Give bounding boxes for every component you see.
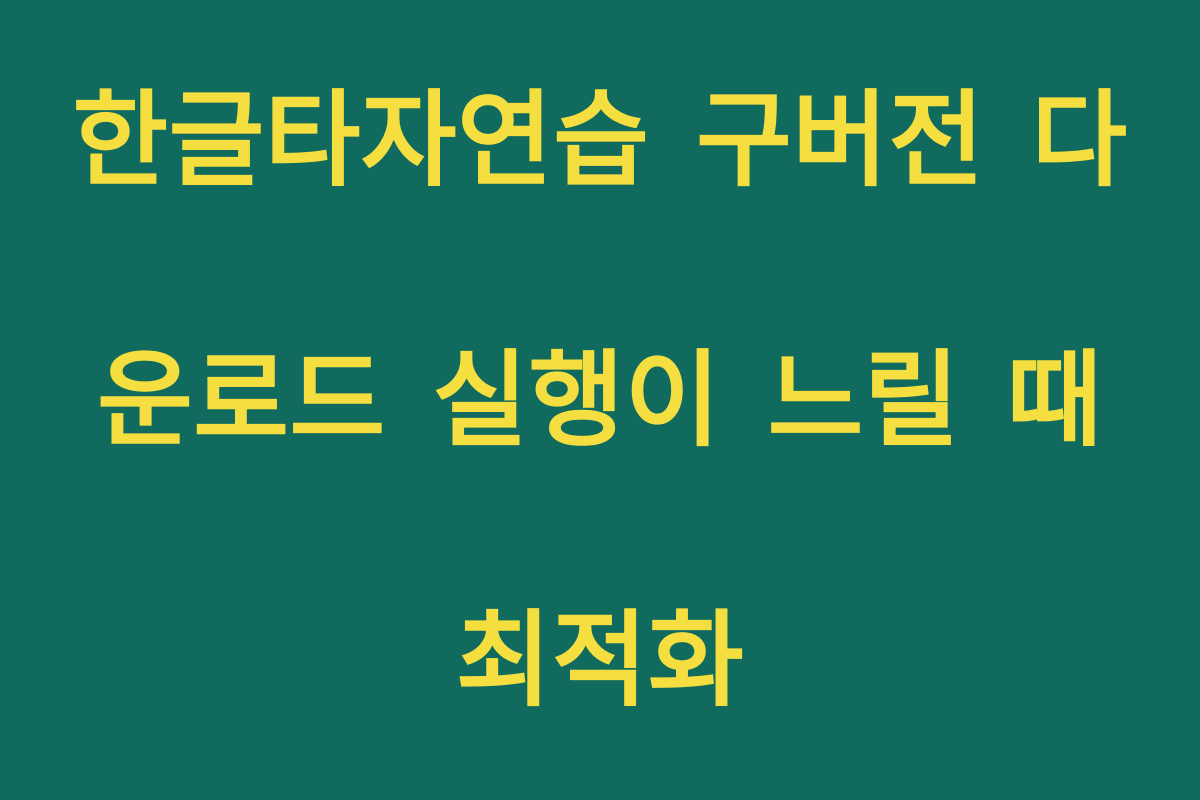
headline-line-2: 운로드 실행이 느릴 때 — [70, 335, 1130, 465]
page-title: 한글타자연습 구버전 다 운로드 실행이 느릴 때 최적화 — [70, 0, 1130, 800]
headline-line-1: 한글타자연습 구버전 다 — [70, 75, 1130, 205]
headline-line-3: 최적화 — [70, 595, 1130, 725]
banner-canvas: 한글타자연습 구버전 다 운로드 실행이 느릴 때 최적화 — [0, 0, 1200, 800]
